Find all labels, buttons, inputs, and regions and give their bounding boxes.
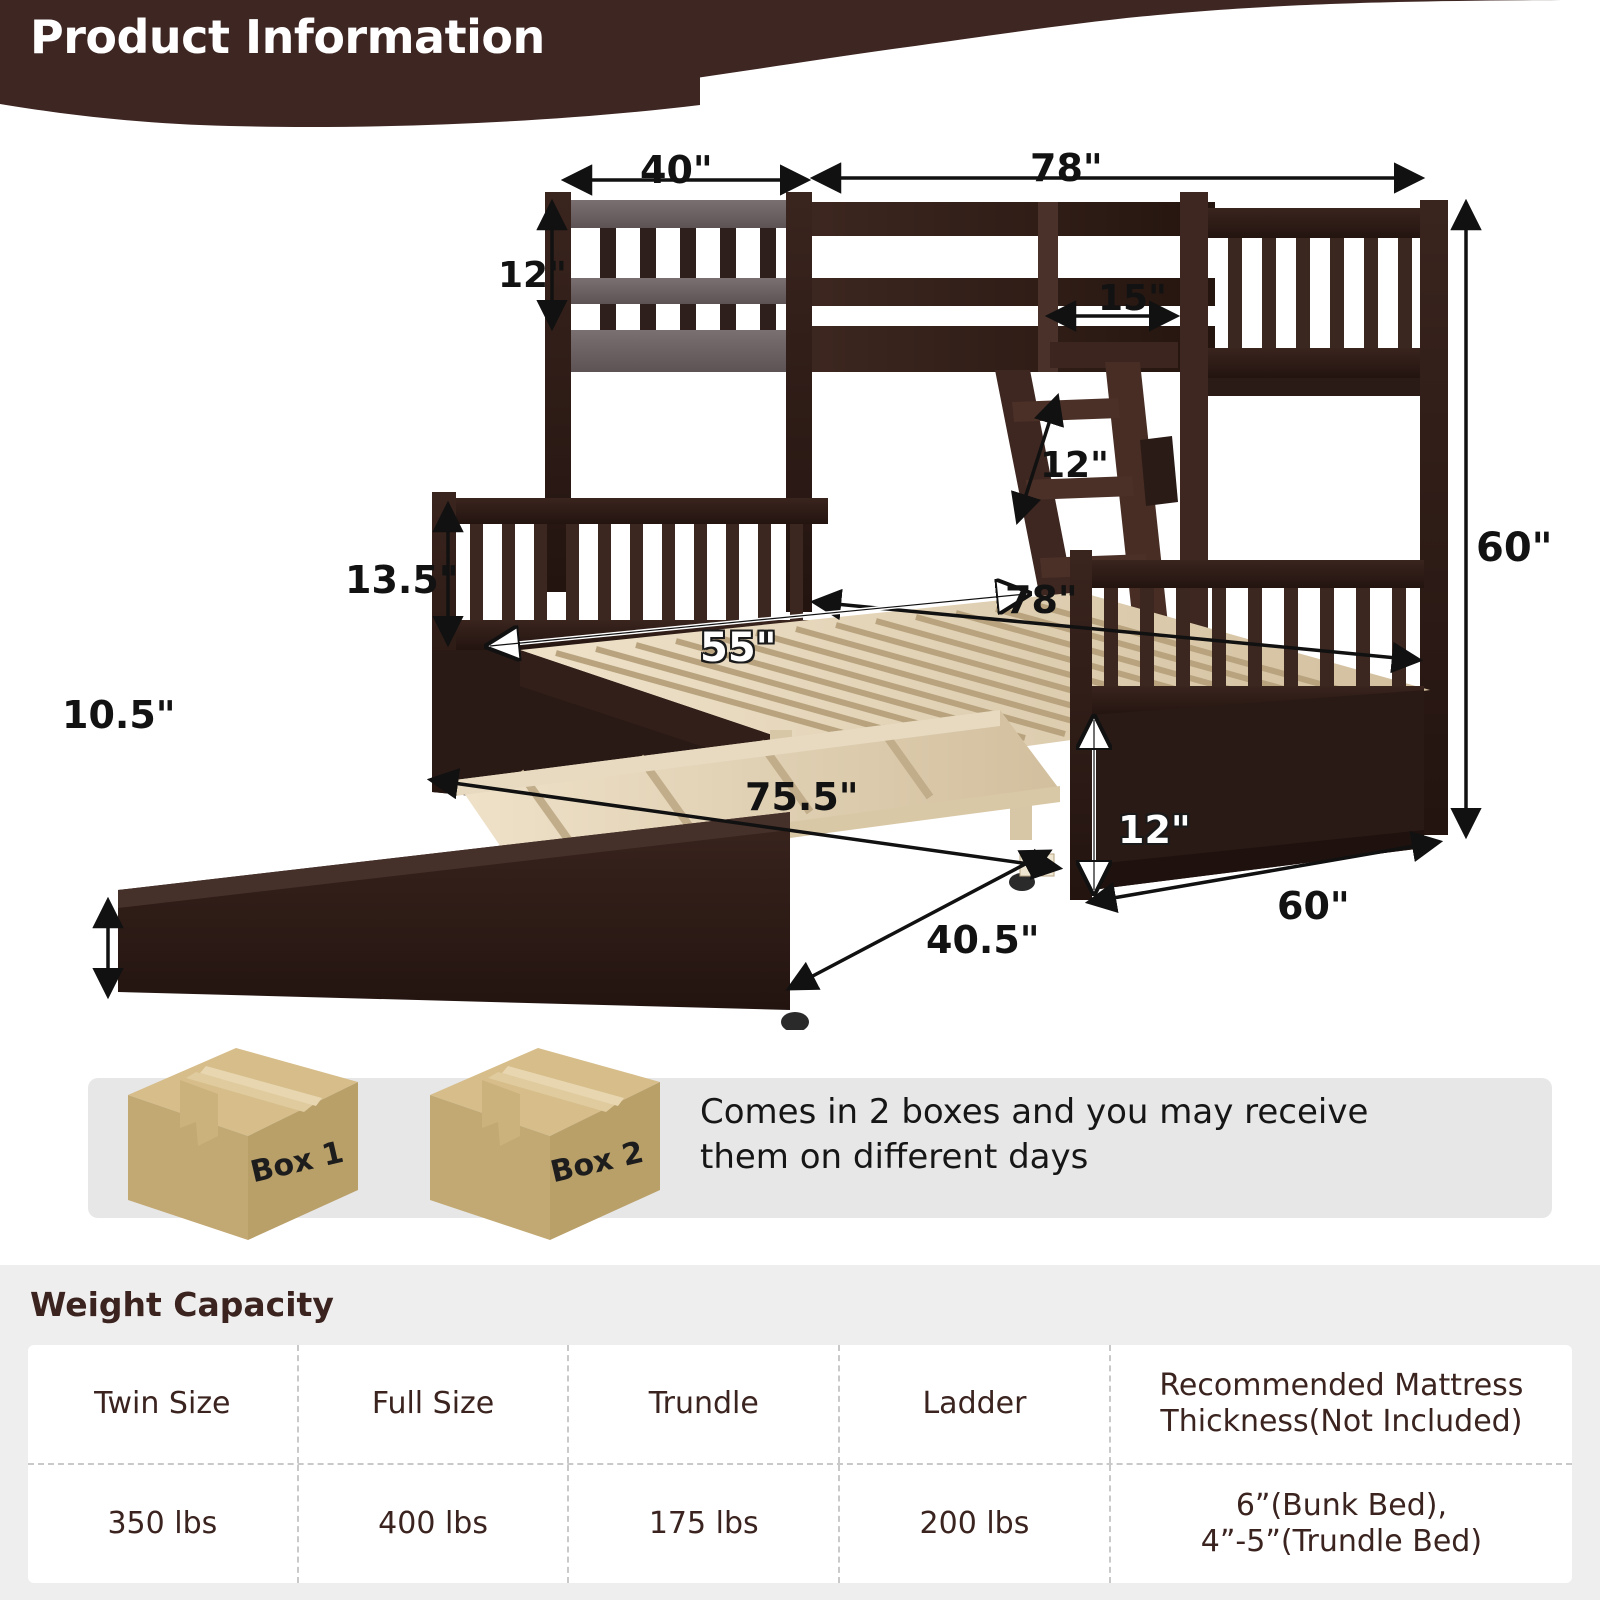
product-information-infographic: Product Information: [0, 0, 1600, 1600]
dim-label-trundle-75-5in: 75.5": [745, 775, 859, 819]
table-value-trundle: 175 lbs: [569, 1465, 840, 1583]
page-title: Product Information: [30, 10, 545, 64]
dim-label-clearance-12in: 12": [1118, 808, 1191, 852]
upper-guardrail-left: [570, 200, 805, 372]
shipping-note-text: Comes in 2 boxes and you may receive the…: [700, 1090, 1490, 1180]
bed-structure: [108, 178, 1466, 1030]
shipping-note-line-2: them on different days: [700, 1135, 1490, 1180]
table-header-row: Twin Size Full Size Trundle Ladder Recom…: [28, 1345, 1572, 1465]
weight-capacity-table: Twin Size Full Size Trundle Ladder Recom…: [28, 1345, 1572, 1583]
dim-label-headboard-13-5in: 13.5": [345, 558, 459, 602]
dim-label-trundle-10-5in: 10.5": [62, 693, 176, 737]
dim-label-rung-12in: 12": [1040, 445, 1109, 486]
table-value-ladder: 200 lbs: [840, 1465, 1111, 1583]
dim-label-40in: 40": [640, 148, 713, 192]
table-header-twin: Twin Size: [28, 1345, 299, 1463]
dim-label-footboard-60in: 60": [1277, 884, 1350, 928]
upper-headboard-right: [1205, 208, 1435, 396]
shipping-note-line-1: Comes in 2 boxes and you may receive: [700, 1090, 1490, 1135]
bunk-bed-illustration: [0, 130, 1600, 1030]
table-value-twin: 350 lbs: [28, 1465, 299, 1583]
dim-label-guardrail-12in: 12": [498, 255, 567, 296]
dim-label-height-60in: 60": [1476, 525, 1553, 571]
dim-label-lower-length-78in: 78": [1005, 578, 1078, 622]
table-value-full: 400 lbs: [299, 1465, 570, 1583]
table-header-mattress-thickness: Recommended Mattress Thickness(Not Inclu…: [1111, 1345, 1572, 1463]
table-value-mattress-thickness: 6”(Bunk Bed), 4”-5”(Trundle Bed): [1111, 1465, 1572, 1583]
table-header-trundle: Trundle: [569, 1345, 840, 1463]
weight-capacity-section: Weight Capacity Twin Size Full Size Trun…: [0, 1265, 1600, 1600]
table-header-full: Full Size: [299, 1345, 570, 1463]
weight-capacity-title: Weight Capacity: [30, 1285, 334, 1324]
dim-label-ladder-15in: 15": [1098, 278, 1167, 319]
table-header-ladder: Ladder: [840, 1345, 1111, 1463]
dim-label-trundle-40-5in: 40.5": [926, 918, 1040, 962]
table-value-row: 350 lbs 400 lbs 175 lbs 200 lbs 6”(Bunk …: [28, 1465, 1572, 1583]
dim-label-upper-length-78in: 78": [1030, 146, 1103, 190]
dim-label-width-55in: 55": [700, 625, 777, 671]
